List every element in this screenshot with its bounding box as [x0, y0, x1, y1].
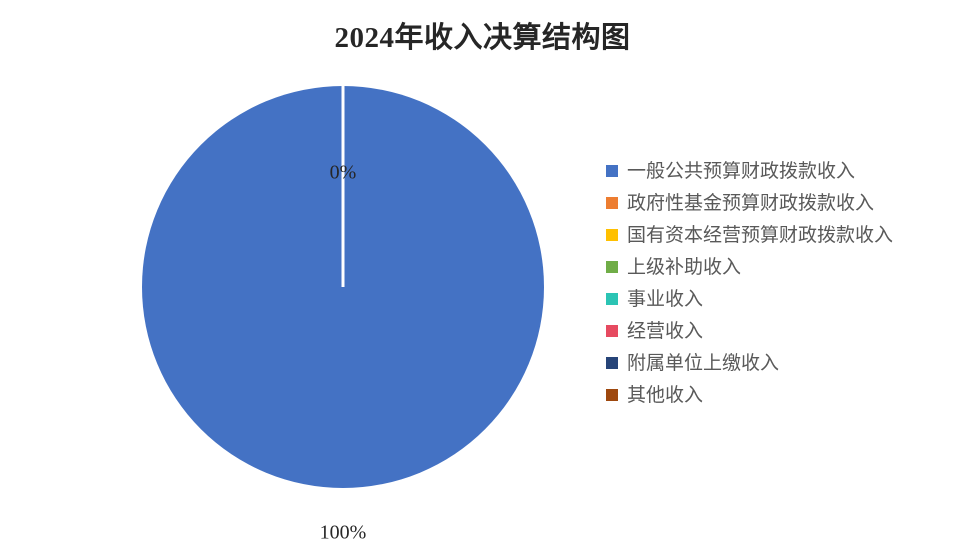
legend-item-operating-institution-income[interactable]: 事业收入: [606, 283, 956, 315]
chart-canvas: 2024年收入决算结构图 0% 100% 一般公共预算财政拨款收入 政府性基金预…: [0, 0, 965, 515]
legend-swatch-icon: [606, 165, 618, 177]
legend-item-label: 事业收入: [627, 290, 703, 309]
legend-item-government-fund-budget[interactable]: 政府性基金预算财政拨款收入: [606, 187, 956, 219]
legend-item-state-capital-budget[interactable]: 国有资本经营预算财政拨款收入: [606, 219, 956, 251]
legend-item-label: 附属单位上缴收入: [627, 354, 779, 373]
legend-swatch-icon: [606, 197, 618, 209]
legend-item-label: 国有资本经营预算财政拨款收入: [627, 226, 893, 245]
legend-item-general-public-budget[interactable]: 一般公共预算财政拨款收入: [606, 155, 956, 187]
legend-item-business-income[interactable]: 经营收入: [606, 315, 956, 347]
legend-swatch-icon: [606, 229, 618, 241]
pie-data-label-zero-percent: 0%: [330, 162, 357, 185]
legend-item-subordinate-unit-payment[interactable]: 附属单位上缴收入: [606, 347, 956, 379]
legend-swatch-icon: [606, 389, 618, 401]
legend-item-label: 其他收入: [627, 386, 703, 405]
legend-swatch-icon: [606, 293, 618, 305]
chart-legend: 一般公共预算财政拨款收入 政府性基金预算财政拨款收入 国有资本经营预算财政拨款收…: [606, 155, 956, 411]
legend-item-other-income[interactable]: 其他收入: [606, 379, 956, 411]
pie-data-label-hundred-percent: 100%: [320, 522, 367, 545]
legend-item-label: 经营收入: [627, 322, 703, 341]
legend-item-superior-subsidy[interactable]: 上级补助收入: [606, 251, 956, 283]
legend-swatch-icon: [606, 261, 618, 273]
legend-swatch-icon: [606, 325, 618, 337]
pie-chart-plot-area: 0% 100%: [0, 60, 600, 515]
legend-item-label: 一般公共预算财政拨款收入: [627, 162, 855, 181]
legend-item-label: 上级补助收入: [627, 258, 741, 277]
pie-chart-graphic: [0, 60, 600, 515]
legend-item-label: 政府性基金预算财政拨款收入: [627, 194, 874, 213]
chart-title: 2024年收入决算结构图: [0, 14, 965, 56]
legend-swatch-icon: [606, 357, 618, 369]
